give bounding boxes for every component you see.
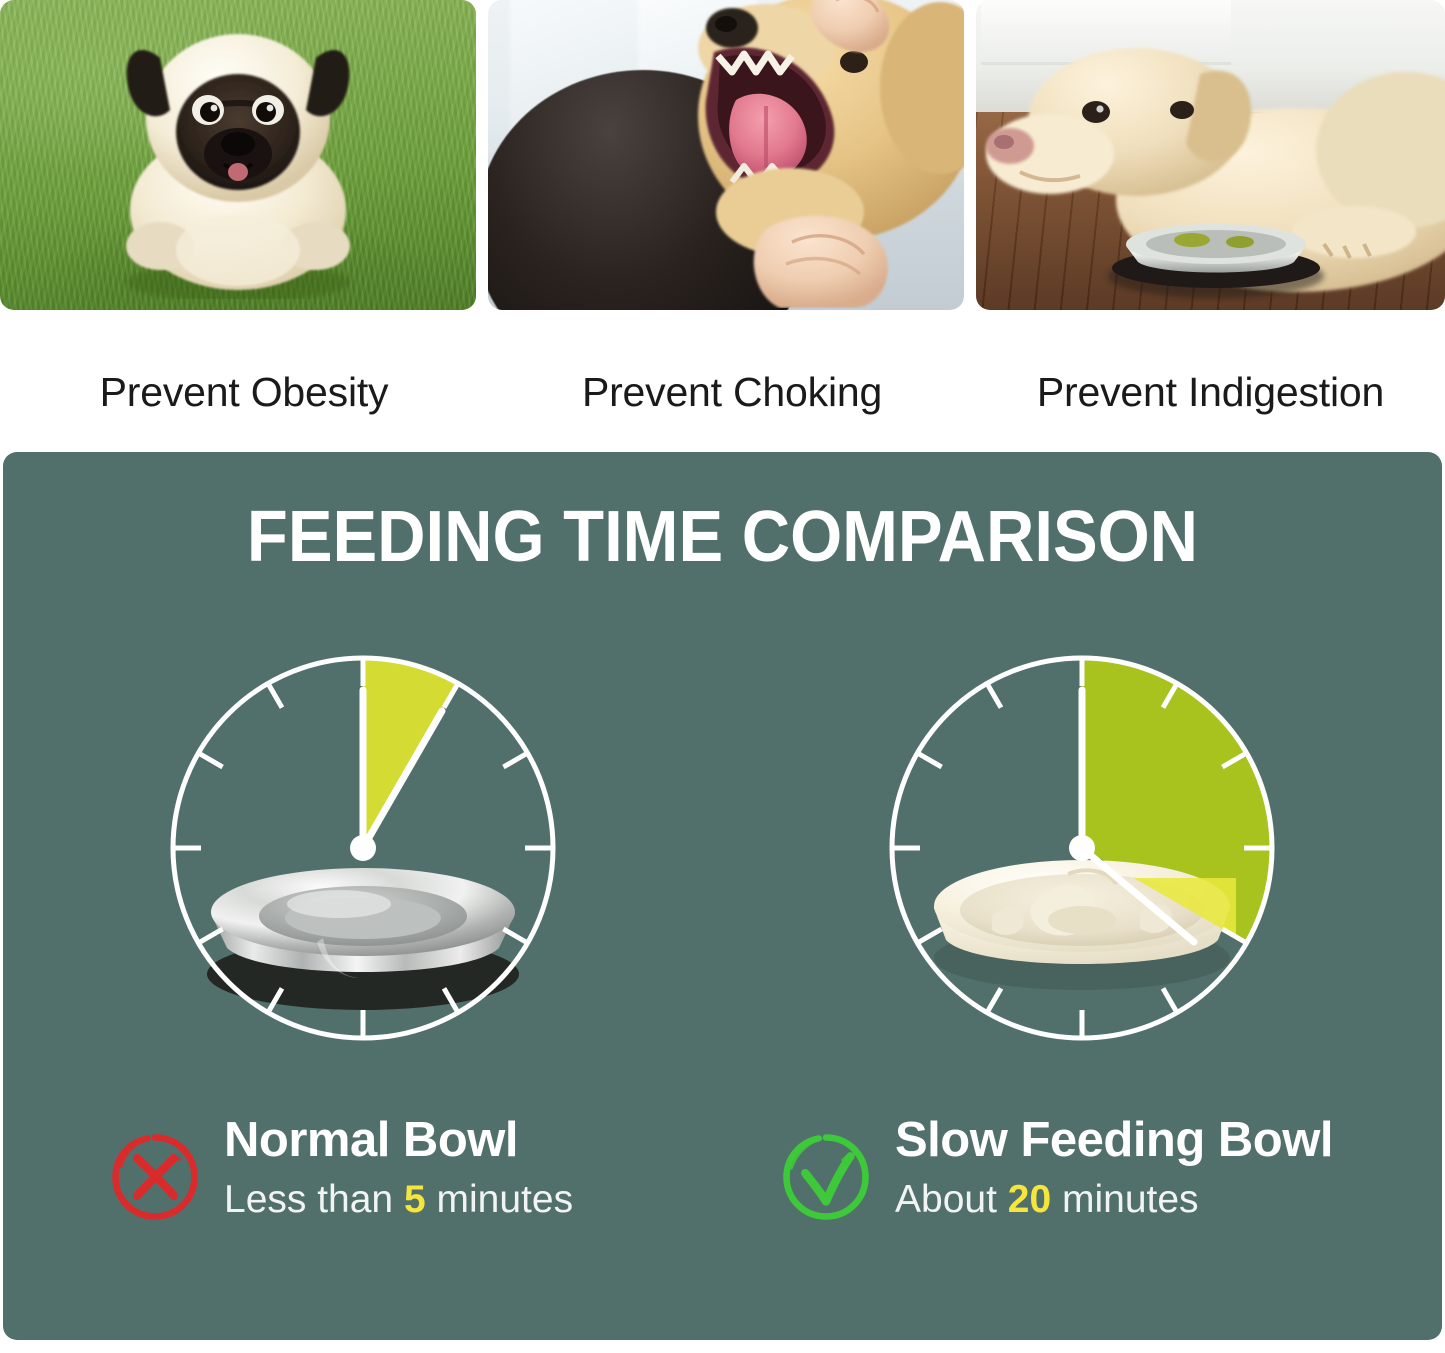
golden-retriever-illustration bbox=[640, 0, 964, 308]
legend-normal-bowl-sub-suffix: minutes bbox=[426, 1178, 573, 1221]
photo-prevent-indigestion-image bbox=[976, 0, 1445, 310]
legend-slow-feeding-bowl: Slow Feeding Bowl About 20 minutes bbox=[771, 1116, 1442, 1266]
clock-slow-feeding-bowl-wrap bbox=[723, 628, 1443, 1060]
benefit-photo-strip bbox=[0, 0, 1445, 310]
panel-title: FEEDING TIME COMPARISON bbox=[53, 496, 1391, 578]
caption-prevent-indigestion: Prevent Indigestion bbox=[976, 310, 1445, 452]
labrador-illustration bbox=[976, 0, 1445, 310]
caption-prevent-choking: Prevent Choking bbox=[488, 310, 976, 452]
clock-normal-bowl bbox=[153, 628, 573, 1048]
legend-normal-bowl-text: Normal Bowl Less than 5 minutes bbox=[224, 1116, 573, 1219]
clock-normal-bowl-wrap bbox=[3, 628, 723, 1060]
stainless-steel-bowl-graphic bbox=[207, 868, 519, 1010]
photo-prevent-choking bbox=[488, 0, 964, 310]
legend-slow-feeding-bowl-sub-suffix: minutes bbox=[1051, 1178, 1198, 1221]
clock-slow-feeding-bowl bbox=[872, 628, 1292, 1048]
legend-normal-bowl: Normal Bowl Less than 5 minutes bbox=[3, 1116, 771, 1266]
legend-normal-bowl-sub-prefix: Less than bbox=[224, 1178, 404, 1221]
legend-slow-feeding-bowl-subtitle: About 20 minutes bbox=[895, 1180, 1333, 1219]
photo-prevent-obesity-image bbox=[0, 0, 476, 310]
cross-circle-icon bbox=[108, 1130, 202, 1224]
legend-slow-feeding-bowl-text: Slow Feeding Bowl About 20 minutes bbox=[895, 1116, 1333, 1219]
caption-prevent-obesity: Prevent Obesity bbox=[0, 310, 488, 452]
legend-normal-bowl-subtitle: Less than 5 minutes bbox=[224, 1180, 573, 1219]
legend-normal-bowl-sub-value: 5 bbox=[404, 1178, 426, 1221]
pug-illustration bbox=[98, 14, 378, 299]
legend-normal-bowl-title: Normal Bowl bbox=[224, 1116, 573, 1165]
benefit-captions: Prevent Obesity Prevent Choking Prevent … bbox=[0, 310, 1445, 452]
legend-slow-feeding-bowl-title: Slow Feeding Bowl bbox=[895, 1116, 1333, 1165]
check-circle-icon bbox=[779, 1130, 873, 1224]
photo-prevent-indigestion bbox=[976, 0, 1445, 310]
photo-prevent-choking-image bbox=[488, 0, 964, 310]
photo-prevent-obesity bbox=[0, 0, 476, 310]
comparison-legend: Normal Bowl Less than 5 minutes Slow Fee… bbox=[3, 1116, 1442, 1266]
legend-slow-feeding-bowl-sub-value: 20 bbox=[1008, 1178, 1051, 1221]
feeding-time-comparison-panel: FEEDING TIME COMPARISON bbox=[3, 452, 1442, 1340]
clock-comparison-row bbox=[3, 628, 1442, 1060]
legend-slow-feeding-bowl-sub-prefix: About bbox=[895, 1178, 1008, 1221]
